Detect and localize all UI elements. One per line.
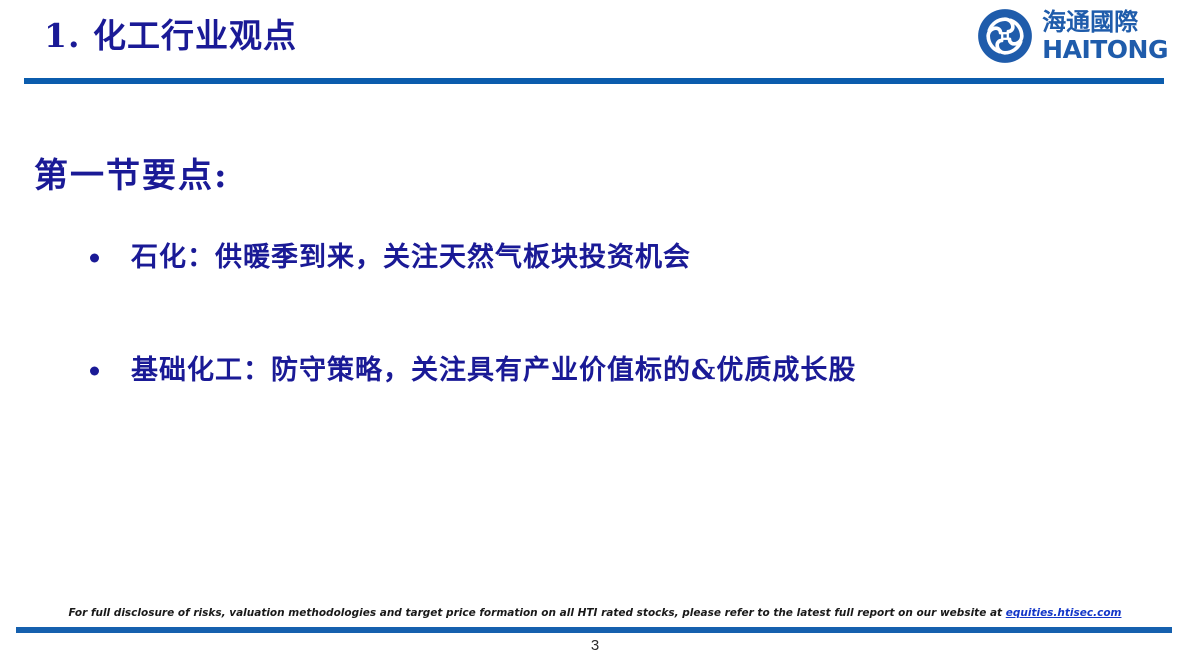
- haitong-emblem-icon: [977, 8, 1033, 64]
- page-title: 1. 化工行业观点: [44, 16, 297, 56]
- logo-brand-en: HAITONG: [1042, 37, 1168, 62]
- section-heading: 第一节要点:: [34, 148, 229, 197]
- slide-content: 第一节要点: 石化：供暖季到来，关注天然气板块投资机会 基础化工：防守策略，关注…: [0, 90, 1190, 580]
- disclaimer-text: For full disclosure of risks, valuation …: [0, 607, 1190, 619]
- bullet-list: 石化：供暖季到来，关注天然气板块投资机会 基础化工：防守策略，关注具有产业价值标…: [0, 240, 1190, 466]
- presentation-slide: 1. 化工行业观点: [0, 0, 1190, 669]
- list-item: 基础化工：防守策略，关注具有产业价值标的&优质成长股: [0, 353, 1190, 388]
- slide-footer: For full disclosure of risks, valuation …: [0, 589, 1190, 669]
- bullet-text: 基础化工：防守策略，关注具有产业价值标的&优质成长股: [131, 353, 856, 388]
- bullet-dot-icon: [90, 366, 99, 375]
- page-number: 3: [0, 637, 1190, 654]
- disclaimer-prefix: For full disclosure of risks, valuation …: [69, 607, 1006, 619]
- footer-divider-rule: [16, 627, 1172, 633]
- disclaimer-website-link[interactable]: equities.htisec.com: [1006, 607, 1122, 619]
- bullet-text: 石化：供暖季到来，关注天然气板块投资机会: [131, 240, 691, 275]
- bullet-dot-icon: [90, 253, 99, 262]
- haitong-logo: 海通國際 HAITONG: [977, 8, 1168, 64]
- logo-brand-cn: 海通國際: [1042, 10, 1168, 34]
- list-item: 石化：供暖季到来，关注天然气板块投资机会: [0, 240, 1190, 275]
- header-divider-rule: [24, 78, 1164, 84]
- logo-wordmark: 海通國際 HAITONG: [1042, 10, 1168, 62]
- slide-header: 1. 化工行业观点: [0, 0, 1190, 90]
